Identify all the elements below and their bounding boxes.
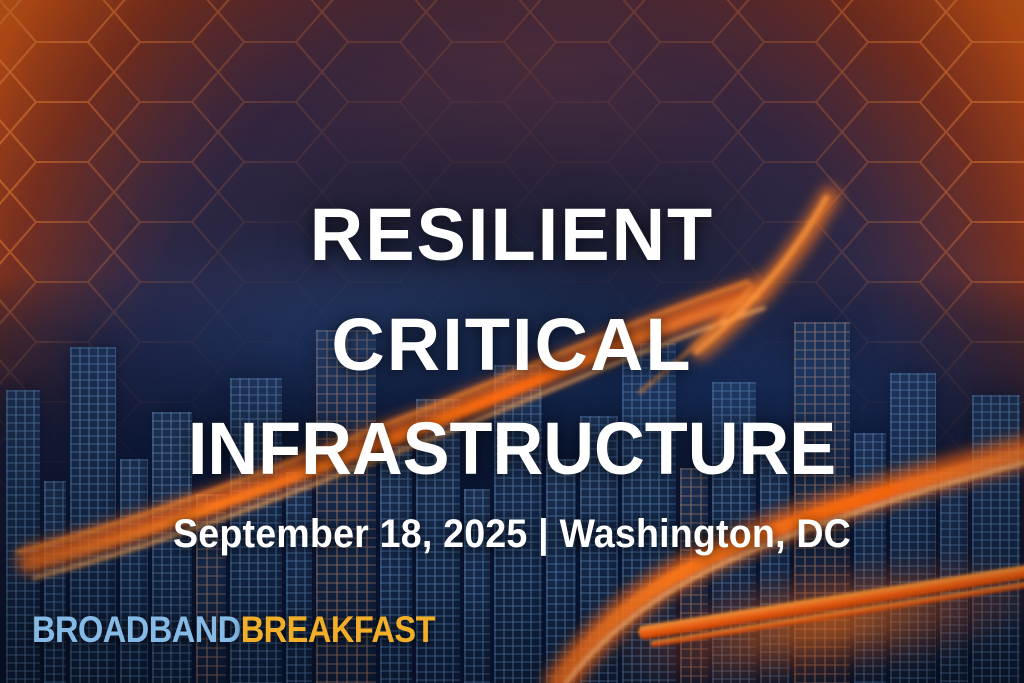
logo-word-breakfast: BREAKFAST	[241, 609, 435, 650]
event-promo-poster: RESILIENT CRITICAL INFRASTRUCTURE Septem…	[0, 0, 1024, 683]
headline-line-1: RESILIENT	[0, 198, 1024, 272]
event-details: September 18, 2025 | Washington, DC	[31, 512, 994, 557]
headline-line-2: CRITICAL	[0, 308, 1024, 382]
logo-word-broadband: BROADBAND	[32, 609, 241, 650]
broadband-breakfast-logo[interactable]: BROADBANDBREAKFAST	[32, 609, 435, 651]
headline-line-3: INFRASTRUCTURE	[26, 412, 999, 486]
poster-content: RESILIENT CRITICAL INFRASTRUCTURE Septem…	[0, 0, 1024, 683]
